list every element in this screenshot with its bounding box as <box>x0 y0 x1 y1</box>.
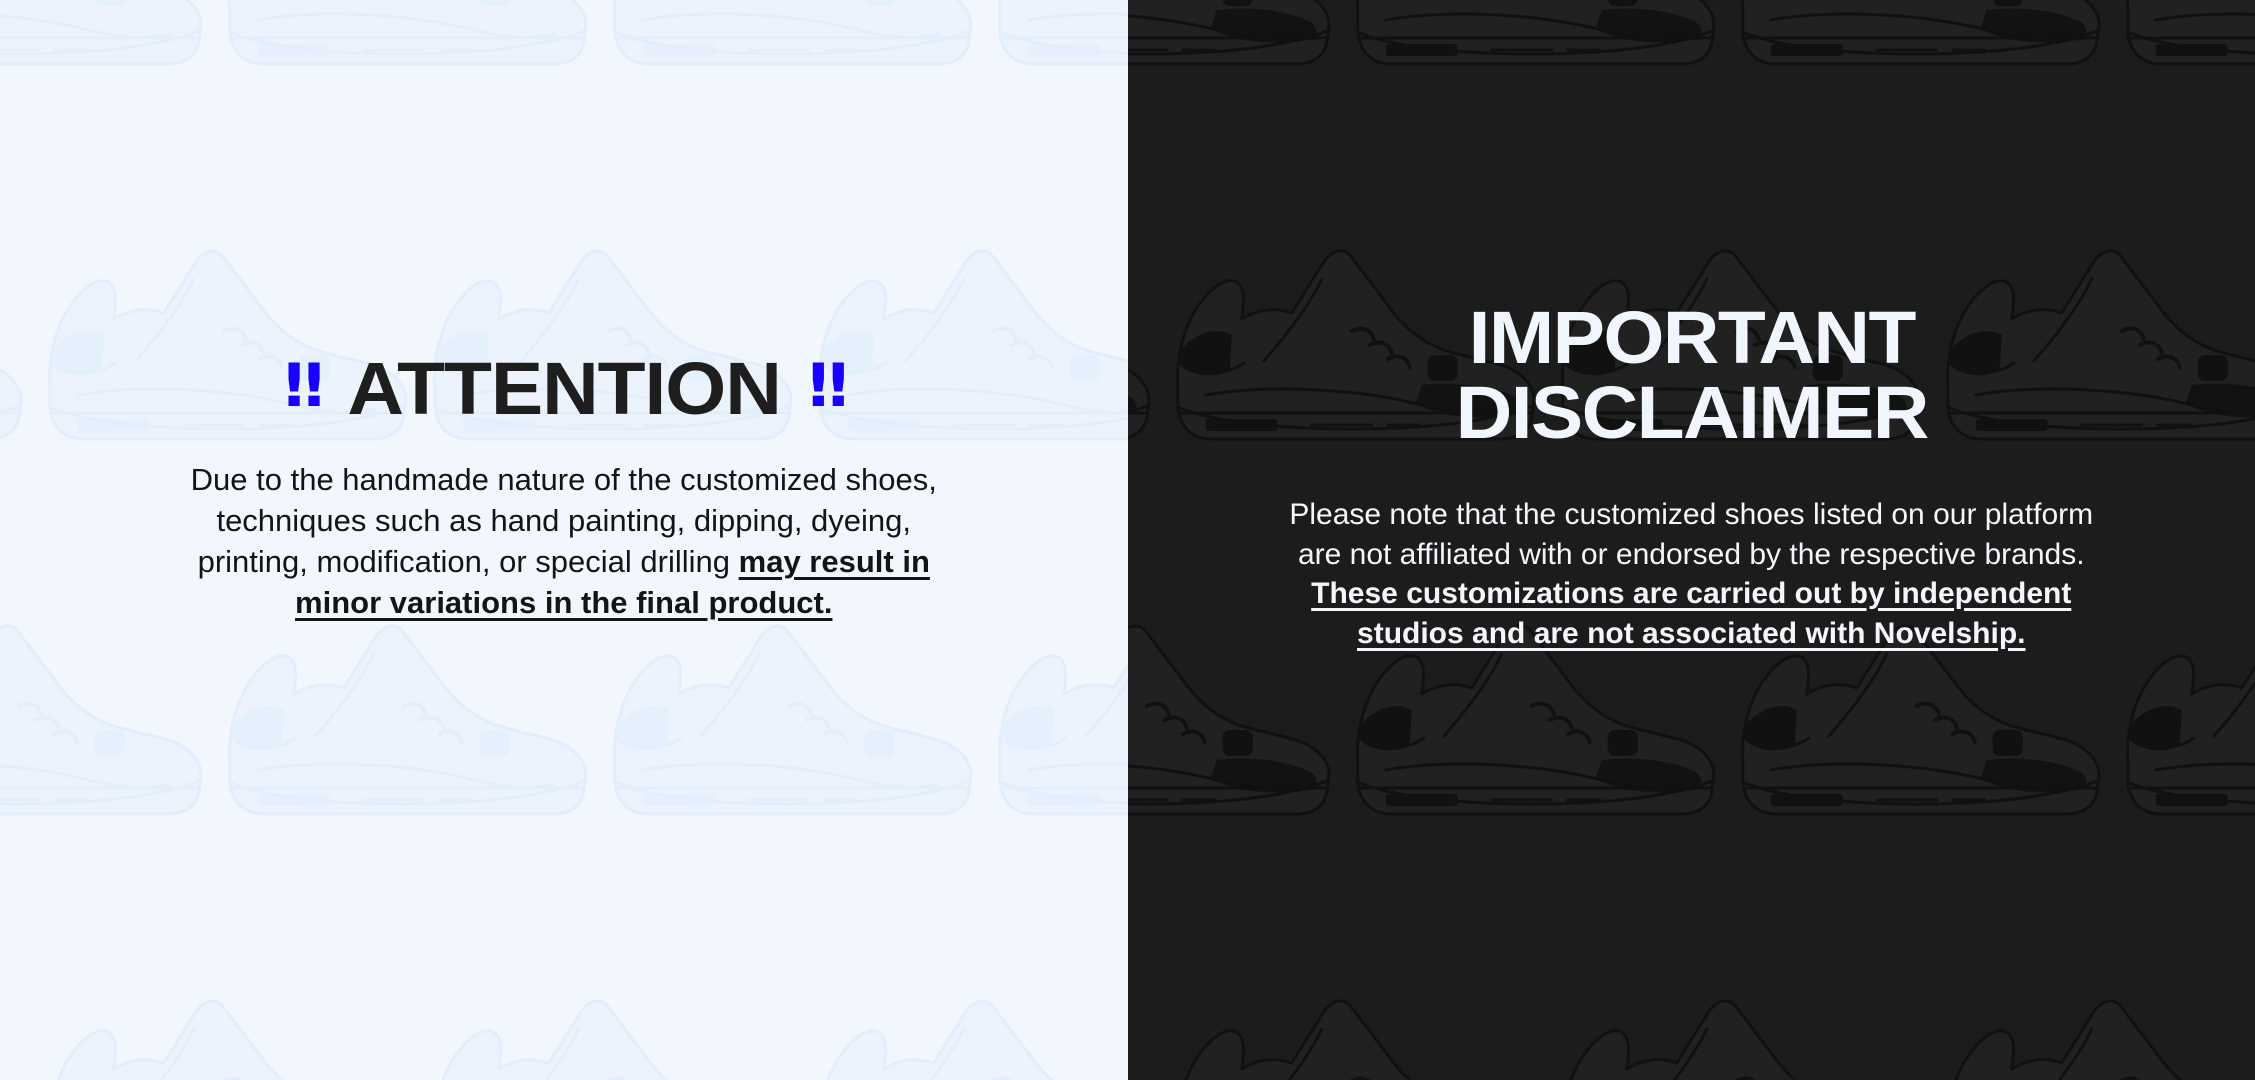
disclaimer-heading: IMPORTANT DISCLAIMER <box>1455 300 1927 451</box>
disclaimer-body: Please note that the customized shoes li… <box>1281 495 2101 653</box>
double-exclamation-left-icon: ‼ <box>284 356 320 416</box>
disclaimer-heading-line-1: IMPORTANT <box>1455 300 1927 375</box>
disclaimer-body-lead: Please note that the customized shoes li… <box>1289 498 2093 571</box>
attention-heading-text: ATTENTION <box>347 352 780 426</box>
disclaimer-banner: ‼ ATTENTION ‼ Due to the handmade nature… <box>0 0 2255 1080</box>
attention-panel: ‼ ATTENTION ‼ Due to the handmade nature… <box>0 0 1128 1080</box>
disclaimer-panel: IMPORTANT DISCLAIMER Please note that th… <box>1128 0 2255 1080</box>
double-exclamation-right-icon: ‼ <box>808 356 844 416</box>
attention-body: Due to the handmade nature of the custom… <box>164 460 964 624</box>
disclaimer-body-emphasis: These customizations are carried out by … <box>1311 577 2071 650</box>
attention-heading: ‼ ATTENTION ‼ <box>284 352 844 426</box>
disclaimer-heading-line-2: DISCLAIMER <box>1455 375 1927 450</box>
